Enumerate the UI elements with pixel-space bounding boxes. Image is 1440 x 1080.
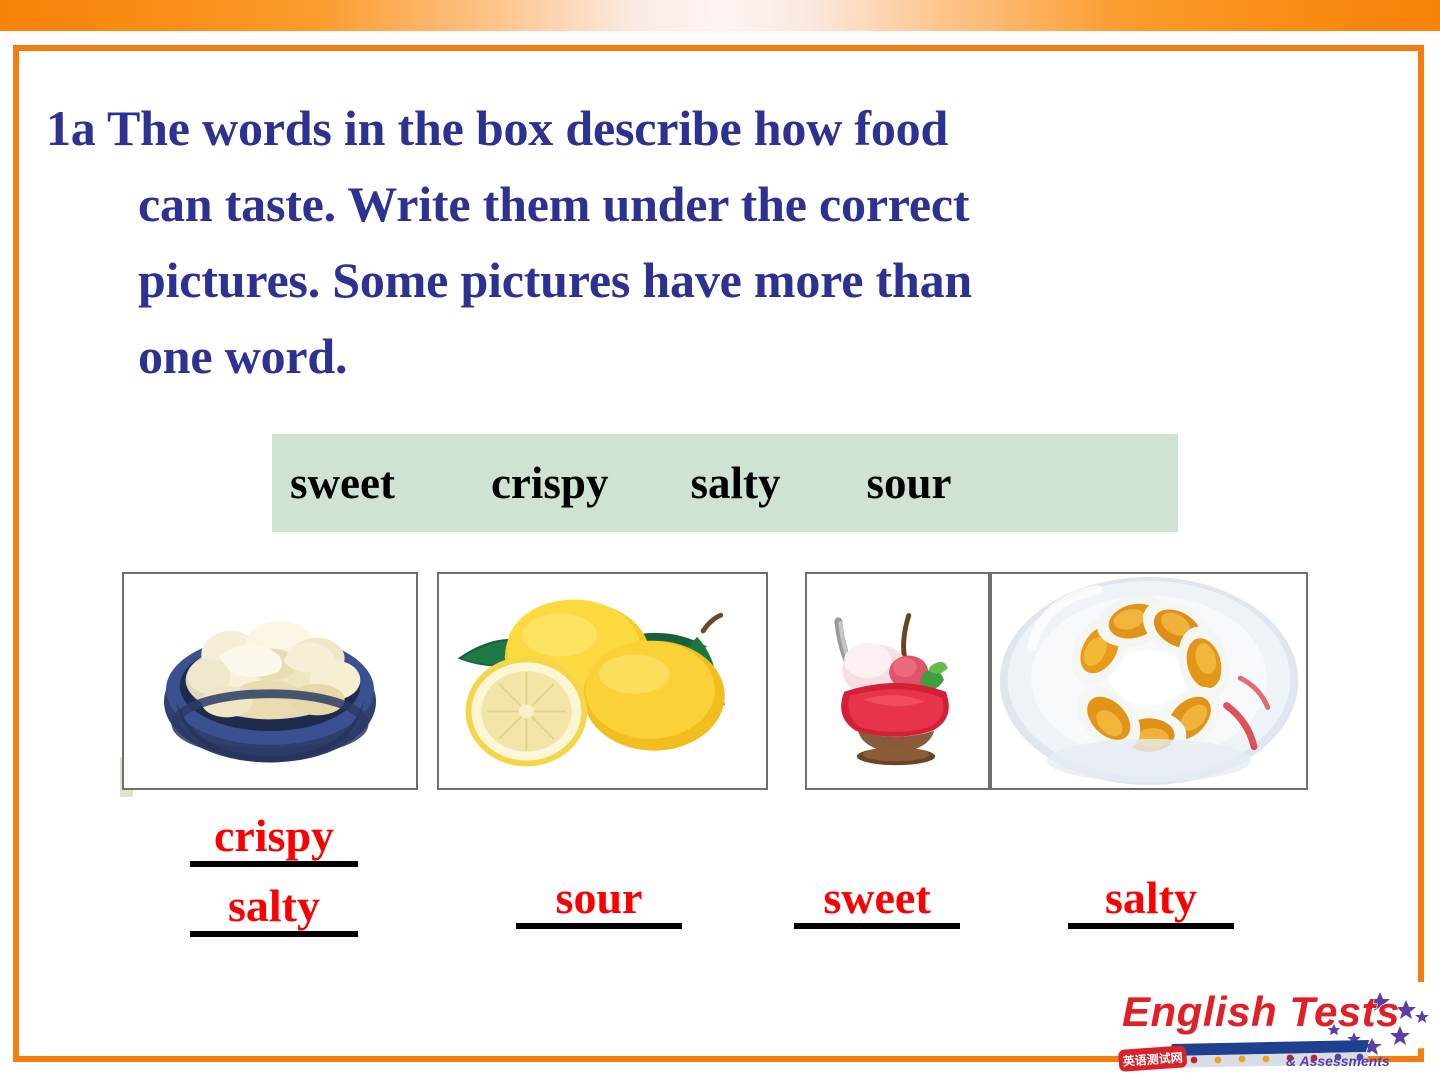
answer-text: salty: [228, 880, 320, 931]
answer-underline: [190, 931, 358, 937]
prompt-line-2: can taste. Write them under the correct: [46, 166, 1376, 242]
word-bank-item-sour[interactable]: sour: [866, 461, 951, 506]
picture-frame-lemons[interactable]: [437, 572, 768, 790]
answer-underline: [1068, 923, 1234, 929]
answer-text: sour: [556, 872, 643, 923]
word-bank-box: sweet crispy salty sour: [272, 434, 1178, 532]
picture-frame-salted-eggs[interactable]: [990, 572, 1308, 790]
word-bank-item-crispy[interactable]: crispy: [491, 461, 609, 506]
answer-text: salty: [1105, 872, 1197, 923]
answer-underline: [190, 861, 358, 867]
lemons-image: [439, 574, 766, 788]
chips-bowl-image: [124, 574, 416, 788]
english-tests-logo[interactable]: English Tests 英语测试网 & Assessments: [1114, 978, 1432, 1078]
answer-text: crispy: [214, 810, 334, 861]
page-title: 1a The words in the box describe how foo…: [46, 90, 1376, 394]
answer-picture-4[interactable]: salty: [1068, 874, 1234, 929]
word-bank-item-sweet[interactable]: sweet: [290, 461, 395, 506]
top-banner-fade: [0, 31, 1440, 43]
prompt-line-4: one word.: [46, 318, 1376, 394]
picture-frame-ice-cream[interactable]: [805, 572, 990, 790]
prompt-line-3: pictures. Some pictures have more than: [46, 242, 1376, 318]
answer-underline: [794, 923, 960, 929]
logo-sub-text: & Assessments: [1286, 1053, 1390, 1069]
answer-picture-1-line-1[interactable]: crispy: [190, 812, 358, 867]
answer-picture-3[interactable]: sweet: [794, 874, 960, 929]
word-bank-item-salty[interactable]: salty: [690, 461, 780, 506]
prompt-line-1: 1a The words in the box describe how foo…: [46, 90, 1376, 166]
salted-eggs-plate-image: [992, 574, 1306, 788]
answer-underline: [516, 923, 682, 929]
answer-picture-1-line-2[interactable]: salty: [190, 882, 358, 937]
top-orange-banner: [0, 0, 1440, 31]
logo-main-text: English Tests: [1122, 988, 1400, 1035]
answer-text: sweet: [823, 872, 930, 923]
picture-frame-chips[interactable]: [122, 572, 418, 790]
answer-picture-2[interactable]: sour: [516, 874, 682, 929]
ice-cream-sundae-image: [807, 574, 988, 788]
logo-graphic: English Tests 英语测试网 & Assessments: [1114, 978, 1432, 1078]
